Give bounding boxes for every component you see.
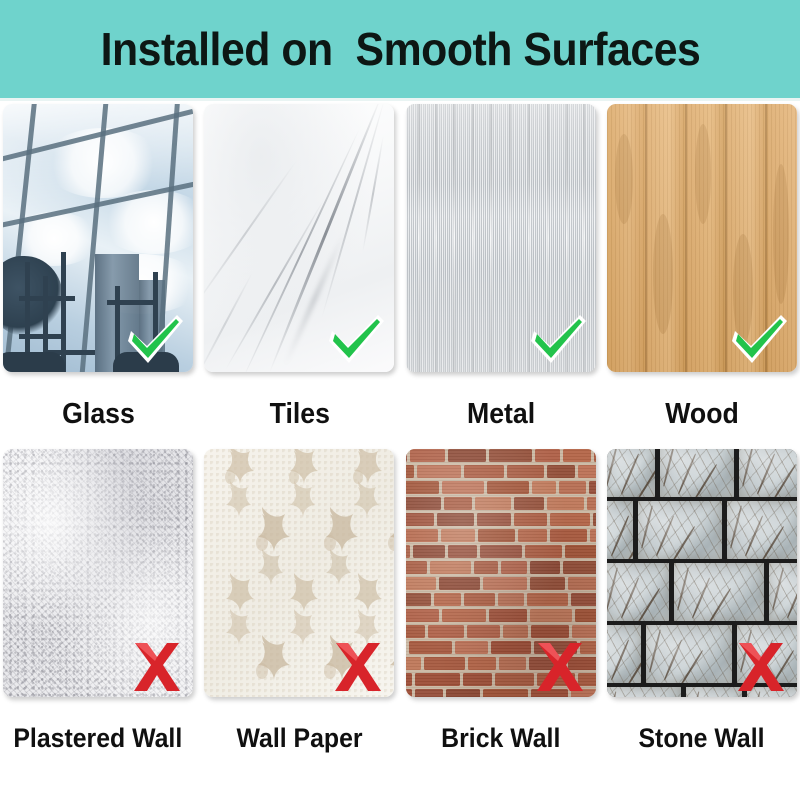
stone-block xyxy=(607,625,641,683)
stone-crack xyxy=(756,453,775,494)
metal-sheen xyxy=(406,104,596,372)
surface-cell-stone-wall[interactable]: Stone Wall xyxy=(604,449,800,754)
stone-crack xyxy=(751,691,761,697)
stone-block xyxy=(607,687,681,697)
stone-crack xyxy=(641,505,654,548)
wall-paper-swatch-image xyxy=(204,449,394,697)
stone-crack xyxy=(742,449,755,487)
brick-grain-overlay xyxy=(406,449,596,697)
surface-cell-tiles[interactable]: Tiles xyxy=(201,104,397,431)
stone-block xyxy=(638,501,722,559)
stone-block xyxy=(739,449,797,497)
stone-crack xyxy=(610,639,629,680)
stone-crack xyxy=(677,453,696,494)
wood-shading xyxy=(607,104,797,372)
stone-crack xyxy=(730,505,743,548)
surface-label-brick-wall: Brick Wall xyxy=(441,723,560,754)
stone-crack xyxy=(744,515,763,556)
stone-crack xyxy=(607,505,608,548)
stone-crack xyxy=(690,691,700,697)
surface-label-stone-wall: Stone Wall xyxy=(639,723,765,754)
brick-wall-swatch-image xyxy=(406,449,596,697)
stone-crack xyxy=(635,464,655,497)
stone-block xyxy=(607,563,669,621)
stone-crack xyxy=(740,629,753,672)
surface-label-metal: Metal xyxy=(467,398,535,431)
surface-cell-glass[interactable]: Glass xyxy=(0,104,196,431)
surface-label-wall-paper: Wall Paper xyxy=(236,723,362,754)
stone-block xyxy=(607,449,655,497)
stone-block xyxy=(646,625,732,683)
surface-label-wood: Wood xyxy=(665,398,739,431)
stone-block xyxy=(737,625,797,683)
stone-crack xyxy=(786,577,797,618)
stone-crack xyxy=(706,588,731,621)
stone-crack xyxy=(620,453,639,494)
stone-block xyxy=(674,563,764,621)
suitable-surfaces-row: Glass Tiles xyxy=(0,104,800,431)
tiles-swatch-image xyxy=(204,104,394,372)
surface-label-plastered-wall: Plastered Wall xyxy=(14,723,183,754)
stone-crack xyxy=(678,650,703,683)
stone-crack xyxy=(769,650,794,683)
wood-swatch-image xyxy=(607,104,797,372)
damask-motif xyxy=(298,633,362,697)
bush-shape xyxy=(3,352,65,372)
header-divider xyxy=(0,98,800,101)
surface-cell-brick-wall[interactable]: Brick Wall xyxy=(403,449,599,754)
stone-crack xyxy=(663,639,682,680)
stone-crack xyxy=(771,464,796,497)
stone-pattern xyxy=(607,449,797,697)
surface-label-tiles: Tiles xyxy=(269,398,329,431)
damask-motif xyxy=(230,633,294,697)
stone-block xyxy=(727,501,797,559)
page-title: Installed on Smooth Surfaces xyxy=(100,22,700,76)
stone-crack xyxy=(625,650,641,683)
stone-crack xyxy=(655,515,674,556)
stone-crack xyxy=(759,526,784,559)
plaster-mottle-layer xyxy=(3,449,193,697)
bush-shape xyxy=(113,352,179,372)
surface-cell-metal[interactable]: Metal xyxy=(403,104,599,431)
stone-block xyxy=(607,501,633,559)
stone-crack xyxy=(677,567,690,610)
stone-block xyxy=(660,449,734,497)
unsuitable-surfaces-row: Plastered Wall W xyxy=(0,449,800,754)
stone-crack xyxy=(649,629,662,672)
stone-crack xyxy=(635,588,660,621)
surface-cell-plastered-wall[interactable]: Plastered Wall xyxy=(0,449,196,754)
stone-crack xyxy=(607,567,618,610)
stone-crack xyxy=(772,567,785,610)
stone-wall-swatch-image xyxy=(607,449,797,697)
stone-block xyxy=(686,687,742,697)
stone-crack xyxy=(692,464,717,497)
stone-crack xyxy=(607,629,608,672)
stone-crack xyxy=(610,515,629,556)
plastered-wall-swatch-image xyxy=(3,449,193,697)
stone-crack xyxy=(607,691,617,697)
surface-grid: Glass Tiles xyxy=(0,104,800,754)
stone-crack xyxy=(691,577,710,618)
stone-crack xyxy=(620,577,639,618)
surface-label-glass: Glass xyxy=(62,398,135,431)
metal-swatch-image xyxy=(406,104,596,372)
stone-crack xyxy=(754,639,773,680)
stone-block xyxy=(769,563,797,621)
surface-cell-wall-paper[interactable]: Wall Paper xyxy=(201,449,397,754)
stone-crack xyxy=(663,449,676,487)
stone-crack xyxy=(670,526,695,559)
stone-crack xyxy=(625,526,633,559)
pole-shape xyxy=(61,252,66,372)
damask-motif xyxy=(362,633,394,697)
surface-cell-wood[interactable]: Wood xyxy=(604,104,800,431)
stone-block xyxy=(747,687,797,697)
glass-swatch-image xyxy=(3,104,193,372)
header-banner: Installed on Smooth Surfaces xyxy=(0,0,800,98)
stone-crack xyxy=(607,449,618,487)
